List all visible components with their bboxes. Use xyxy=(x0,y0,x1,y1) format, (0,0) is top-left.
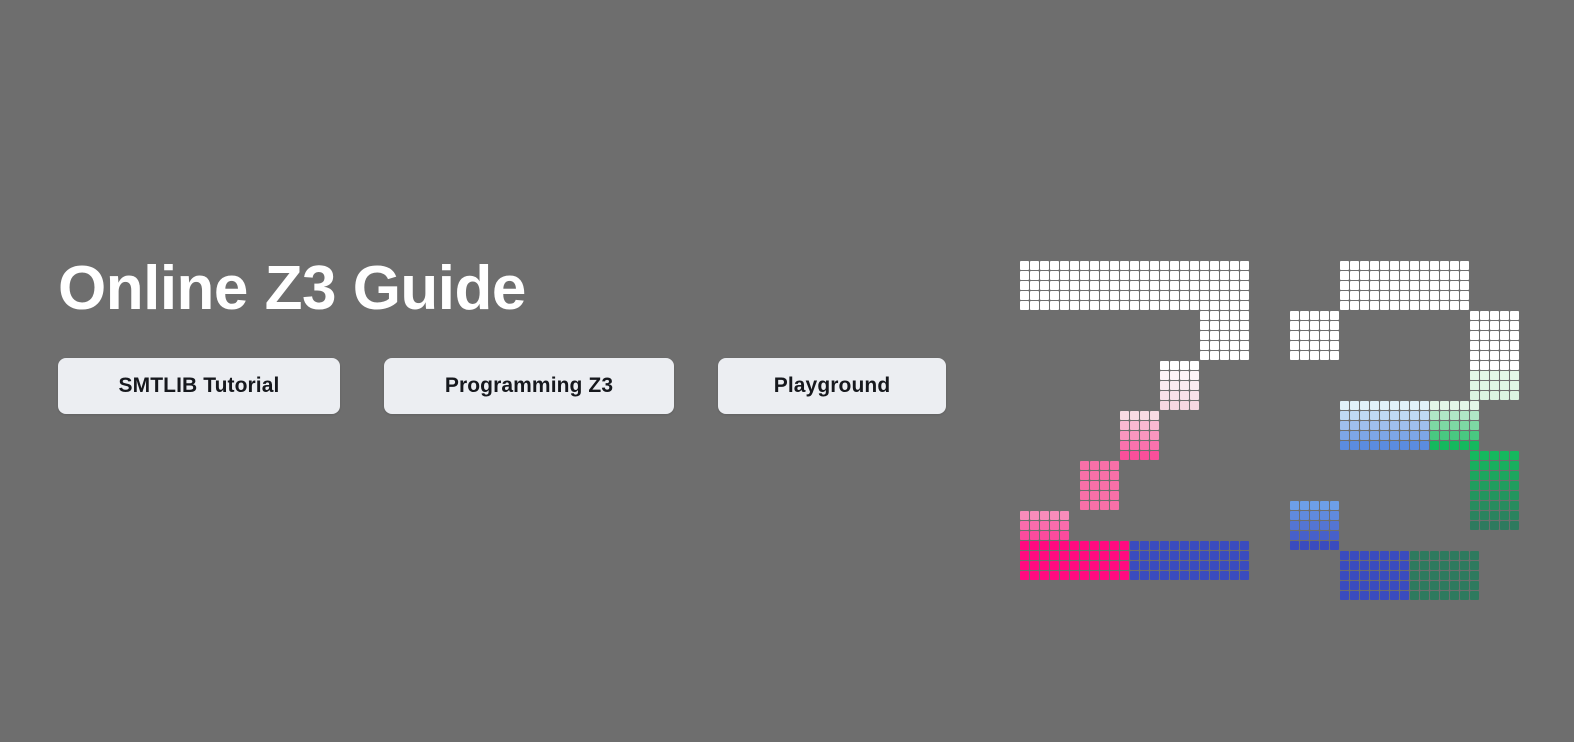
logo-pixel xyxy=(1490,481,1499,490)
logo-pixel xyxy=(1210,341,1219,350)
logo-pixel xyxy=(1040,531,1049,540)
logo-pixel xyxy=(1120,431,1129,440)
logo-pixel xyxy=(1140,301,1149,310)
logo-pixel xyxy=(1330,521,1339,530)
logo-pixel xyxy=(1300,311,1309,320)
logo-pixel xyxy=(1510,311,1519,320)
logo-pixel xyxy=(1380,281,1389,290)
logo-pixel xyxy=(1510,391,1519,400)
logo-pixel xyxy=(1180,401,1189,410)
logo-pixel xyxy=(1390,571,1399,580)
logo-pixel xyxy=(1090,481,1099,490)
logo-pixel xyxy=(1230,291,1239,300)
logo-pixel xyxy=(1210,321,1219,330)
logo-pixel xyxy=(1230,331,1239,340)
logo-pixel xyxy=(1410,551,1419,560)
logo-pixel xyxy=(1400,291,1409,300)
logo-pixel xyxy=(1390,301,1399,310)
logo-pixel xyxy=(1290,311,1299,320)
logo-pixel xyxy=(1420,421,1429,430)
logo-pixel xyxy=(1310,341,1319,350)
logo-pixel xyxy=(1070,551,1079,560)
logo-pixel xyxy=(1470,331,1479,340)
logo-pixel xyxy=(1090,281,1099,290)
logo-pixel xyxy=(1220,331,1229,340)
logo-pixel xyxy=(1500,451,1509,460)
logo-pixel xyxy=(1170,571,1179,580)
logo-pixel xyxy=(1230,281,1239,290)
logo-pixel xyxy=(1190,381,1199,390)
logo-pixel xyxy=(1450,571,1459,580)
logo-pixel xyxy=(1470,591,1479,600)
logo-pixel xyxy=(1100,541,1109,550)
logo-pixel xyxy=(1180,361,1189,370)
logo-pixel xyxy=(1370,591,1379,600)
logo-pixel xyxy=(1150,411,1159,420)
logo-pixel xyxy=(1490,311,1499,320)
logo-pixel xyxy=(1350,411,1359,420)
logo-pixel xyxy=(1140,551,1149,560)
logo-pixel xyxy=(1040,561,1049,570)
logo-pixel xyxy=(1090,261,1099,270)
logo-pixel xyxy=(1360,551,1369,560)
logo-pixel xyxy=(1030,561,1039,570)
logo-pixel xyxy=(1340,581,1349,590)
logo-pixel xyxy=(1430,591,1439,600)
logo-pixel xyxy=(1510,501,1519,510)
logo-pixel xyxy=(1120,271,1129,280)
logo-pixel xyxy=(1330,311,1339,320)
logo-pixel xyxy=(1390,551,1399,560)
logo-pixel xyxy=(1050,301,1059,310)
logo-pixel xyxy=(1460,261,1469,270)
logo-pixel xyxy=(1030,531,1039,540)
logo-pixel xyxy=(1440,291,1449,300)
logo-pixel xyxy=(1040,571,1049,580)
logo-pixel xyxy=(1470,491,1479,500)
logo-pixel xyxy=(1450,561,1459,570)
logo-pixel xyxy=(1120,421,1129,430)
logo-pixel xyxy=(1310,531,1319,540)
logo-pixel xyxy=(1060,511,1069,520)
logo-pixel xyxy=(1450,591,1459,600)
logo-pixel xyxy=(1140,431,1149,440)
logo-pixel xyxy=(1050,291,1059,300)
logo-pixel xyxy=(1090,291,1099,300)
logo-pixel xyxy=(1060,291,1069,300)
logo-pixel xyxy=(1080,501,1089,510)
logo-pixel xyxy=(1170,271,1179,280)
logo-pixel xyxy=(1210,271,1219,280)
logo-pixel xyxy=(1460,591,1469,600)
logo-pixel xyxy=(1420,291,1429,300)
logo-pixel xyxy=(1510,471,1519,480)
logo-pixel xyxy=(1380,571,1389,580)
logo-pixel xyxy=(1380,421,1389,430)
logo-pixel xyxy=(1020,571,1029,580)
logo-pixel xyxy=(1410,291,1419,300)
logo-pixel xyxy=(1180,291,1189,300)
logo-pixel xyxy=(1200,281,1209,290)
logo-pixel xyxy=(1070,571,1079,580)
logo-pixel xyxy=(1390,431,1399,440)
logo-pixel xyxy=(1380,401,1389,410)
logo-pixel xyxy=(1170,361,1179,370)
logo-pixel xyxy=(1170,561,1179,570)
logo-pixel xyxy=(1470,411,1479,420)
logo-pixel xyxy=(1190,281,1199,290)
logo-pixel xyxy=(1450,581,1459,590)
logo-pixel xyxy=(1470,341,1479,350)
logo-pixel xyxy=(1420,401,1429,410)
logo-pixel xyxy=(1190,361,1199,370)
logo-pixel xyxy=(1410,261,1419,270)
logo-pixel xyxy=(1230,561,1239,570)
logo-pixel xyxy=(1070,261,1079,270)
logo-pixel xyxy=(1310,321,1319,330)
logo-pixel xyxy=(1490,511,1499,520)
logo-pixel xyxy=(1170,301,1179,310)
logo-pixel xyxy=(1370,291,1379,300)
logo-pixel xyxy=(1200,301,1209,310)
logo-pixel xyxy=(1040,551,1049,560)
logo-pixel xyxy=(1430,271,1439,280)
logo-pixel xyxy=(1460,581,1469,590)
logo-pixel xyxy=(1290,501,1299,510)
logo-pixel xyxy=(1420,591,1429,600)
logo-pixel xyxy=(1510,381,1519,390)
logo-pixel xyxy=(1480,491,1489,500)
logo-pixel xyxy=(1240,561,1249,570)
logo-pixel xyxy=(1470,551,1479,560)
logo-pixel xyxy=(1500,331,1509,340)
logo-pixel xyxy=(1200,261,1209,270)
logo-pixel xyxy=(1480,521,1489,530)
logo-pixel xyxy=(1400,411,1409,420)
logo-pixel xyxy=(1220,281,1229,290)
logo-pixel xyxy=(1050,531,1059,540)
logo-pixel xyxy=(1080,271,1089,280)
logo-pixel xyxy=(1480,481,1489,490)
logo-pixel xyxy=(1090,471,1099,480)
logo-pixel xyxy=(1490,491,1499,500)
logo-pixel xyxy=(1080,301,1089,310)
logo-pixel xyxy=(1350,261,1359,270)
logo-pixel xyxy=(1440,271,1449,280)
logo-pixel xyxy=(1350,281,1359,290)
logo-pixel xyxy=(1200,311,1209,320)
logo-pixel xyxy=(1340,591,1349,600)
logo-pixel xyxy=(1320,501,1329,510)
logo-pixel xyxy=(1500,511,1509,520)
logo-pixel xyxy=(1480,321,1489,330)
logo-pixel xyxy=(1470,351,1479,360)
logo-pixel xyxy=(1140,541,1149,550)
logo-pixel xyxy=(1470,401,1479,410)
logo-pixel xyxy=(1030,261,1039,270)
logo-pixel xyxy=(1340,401,1349,410)
logo-pixel xyxy=(1320,511,1329,520)
logo-pixel xyxy=(1220,311,1229,320)
logo-pixel xyxy=(1120,291,1129,300)
logo-pixel xyxy=(1470,461,1479,470)
logo-pixel xyxy=(1080,471,1089,480)
logo-pixel xyxy=(1390,581,1399,590)
logo-pixel xyxy=(1420,561,1429,570)
logo-pixel xyxy=(1480,501,1489,510)
logo-pixel xyxy=(1180,281,1189,290)
logo-pixel xyxy=(1490,361,1499,370)
logo-pixel xyxy=(1350,301,1359,310)
logo-pixel xyxy=(1500,481,1509,490)
logo-pixel xyxy=(1420,551,1429,560)
logo-pixel xyxy=(1090,561,1099,570)
logo-pixel xyxy=(1110,551,1119,560)
logo-pixel xyxy=(1510,371,1519,380)
logo-pixel xyxy=(1120,301,1129,310)
logo-pixel xyxy=(1110,501,1119,510)
logo-pixel xyxy=(1090,541,1099,550)
logo-pixel xyxy=(1180,271,1189,280)
logo-pixel xyxy=(1180,381,1189,390)
logo-pixel xyxy=(1400,271,1409,280)
logo-pixel xyxy=(1240,261,1249,270)
logo-pixel xyxy=(1440,261,1449,270)
logo-pixel xyxy=(1510,491,1519,500)
logo-pixel xyxy=(1120,571,1129,580)
z3-pixel-logo xyxy=(1020,261,1520,586)
logo-pixel xyxy=(1470,371,1479,380)
logo-pixel xyxy=(1430,281,1439,290)
logo-pixel xyxy=(1130,451,1139,460)
logo-pixel xyxy=(1510,331,1519,340)
logo-pixel xyxy=(1490,461,1499,470)
logo-pixel xyxy=(1120,281,1129,290)
logo-pixel xyxy=(1430,411,1439,420)
logo-pixel xyxy=(1430,401,1439,410)
logo-pixel xyxy=(1310,331,1319,340)
logo-pixel xyxy=(1150,541,1159,550)
logo-pixel xyxy=(1190,541,1199,550)
logo-pixel xyxy=(1410,571,1419,580)
logo-pixel xyxy=(1130,271,1139,280)
logo-pixel xyxy=(1410,271,1419,280)
logo-pixel xyxy=(1070,561,1079,570)
logo-pixel xyxy=(1480,471,1489,480)
logo-pixel xyxy=(1190,401,1199,410)
logo-pixel xyxy=(1160,301,1169,310)
logo-pixel xyxy=(1320,331,1329,340)
logo-pixel xyxy=(1480,381,1489,390)
logo-pixel xyxy=(1380,431,1389,440)
logo-pixel xyxy=(1340,271,1349,280)
logo-pixel xyxy=(1370,271,1379,280)
logo-pixel xyxy=(1350,571,1359,580)
logo-pixel xyxy=(1150,431,1159,440)
logo-pixel xyxy=(1300,321,1309,330)
logo-pixel xyxy=(1080,261,1089,270)
logo-pixel xyxy=(1050,271,1059,280)
logo-pixel xyxy=(1220,541,1229,550)
logo-pixel xyxy=(1500,521,1509,530)
logo-pixel xyxy=(1150,301,1159,310)
logo-pixel xyxy=(1130,291,1139,300)
logo-pixel xyxy=(1350,401,1359,410)
logo-pixel xyxy=(1080,541,1089,550)
logo-pixel xyxy=(1030,541,1039,550)
hero-text-block: Online Z3 Guide SMTLIB Tutorial Programm… xyxy=(58,258,958,414)
logo-pixel xyxy=(1330,531,1339,540)
logo-pixel xyxy=(1160,271,1169,280)
logo-pixel xyxy=(1100,271,1109,280)
logo-pixel xyxy=(1020,521,1029,530)
logo-pixel xyxy=(1460,411,1469,420)
logo-pixel xyxy=(1040,271,1049,280)
logo-pixel xyxy=(1090,271,1099,280)
logo-pixel xyxy=(1180,561,1189,570)
logo-pixel xyxy=(1100,481,1109,490)
logo-pixel xyxy=(1400,301,1409,310)
logo-pixel xyxy=(1390,591,1399,600)
logo-pixel xyxy=(1430,551,1439,560)
logo-pixel xyxy=(1230,551,1239,560)
logo-pixel xyxy=(1030,271,1039,280)
logo-pixel xyxy=(1400,591,1409,600)
logo-pixel xyxy=(1390,261,1399,270)
logo-pixel xyxy=(1160,571,1169,580)
logo-pixel xyxy=(1450,551,1459,560)
logo-pixel xyxy=(1170,401,1179,410)
logo-pixel xyxy=(1150,551,1159,560)
logo-pixel xyxy=(1440,401,1449,410)
logo-pixel xyxy=(1380,411,1389,420)
logo-pixel xyxy=(1350,561,1359,570)
logo-pixel xyxy=(1340,261,1349,270)
logo-pixel xyxy=(1290,541,1299,550)
logo-pixel xyxy=(1110,571,1119,580)
logo-pixel xyxy=(1420,281,1429,290)
logo-pixel xyxy=(1110,281,1119,290)
logo-pixel xyxy=(1070,281,1079,290)
logo-pixel xyxy=(1480,371,1489,380)
logo-pixel xyxy=(1160,291,1169,300)
playground-button[interactable]: Playground xyxy=(718,358,946,414)
logo-pixel xyxy=(1310,311,1319,320)
logo-pixel xyxy=(1220,291,1229,300)
logo-pixel xyxy=(1500,471,1509,480)
logo-pixel xyxy=(1290,341,1299,350)
logo-pixel xyxy=(1410,591,1419,600)
logo-pixel xyxy=(1020,291,1029,300)
logo-pixel xyxy=(1290,321,1299,330)
logo-pixel xyxy=(1450,441,1459,450)
logo-pixel xyxy=(1140,441,1149,450)
logo-pixel xyxy=(1160,371,1169,380)
logo-pixel xyxy=(1190,301,1199,310)
logo-pixel xyxy=(1510,341,1519,350)
logo-pixel xyxy=(1360,411,1369,420)
logo-pixel xyxy=(1290,331,1299,340)
logo-pixel xyxy=(1360,441,1369,450)
logo-pixel xyxy=(1300,511,1309,520)
logo-pixel xyxy=(1470,511,1479,520)
logo-pixel xyxy=(1330,351,1339,360)
logo-pixel xyxy=(1100,461,1109,470)
logo-pixel xyxy=(1390,441,1399,450)
logo-pixel xyxy=(1450,421,1459,430)
logo-pixel xyxy=(1470,501,1479,510)
logo-pixel xyxy=(1510,451,1519,460)
logo-pixel xyxy=(1200,551,1209,560)
logo-pixel xyxy=(1210,281,1219,290)
logo-pixel xyxy=(1440,571,1449,580)
logo-pixel xyxy=(1050,541,1059,550)
logo-pixel xyxy=(1350,431,1359,440)
logo-pixel xyxy=(1040,291,1049,300)
logo-pixel xyxy=(1110,541,1119,550)
logo-pixel xyxy=(1490,381,1499,390)
logo-pixel xyxy=(1410,281,1419,290)
logo-pixel xyxy=(1410,441,1419,450)
logo-pixel xyxy=(1100,561,1109,570)
logo-pixel xyxy=(1370,301,1379,310)
logo-pixel xyxy=(1040,511,1049,520)
logo-pixel xyxy=(1370,401,1379,410)
programming-z3-button[interactable]: Programming Z3 xyxy=(384,358,674,414)
logo-pixel xyxy=(1100,261,1109,270)
logo-pixel xyxy=(1020,511,1029,520)
logo-pixel xyxy=(1500,371,1509,380)
logo-pixel xyxy=(1060,271,1069,280)
logo-pixel xyxy=(1480,361,1489,370)
logo-pixel xyxy=(1130,561,1139,570)
logo-pixel xyxy=(1480,311,1489,320)
logo-pixel xyxy=(1240,321,1249,330)
logo-pixel xyxy=(1360,281,1369,290)
logo-pixel xyxy=(1460,291,1469,300)
logo-pixel xyxy=(1440,301,1449,310)
logo-pixel xyxy=(1130,541,1139,550)
logo-pixel xyxy=(1020,271,1029,280)
logo-pixel xyxy=(1220,321,1229,330)
logo-pixel xyxy=(1490,521,1499,530)
logo-pixel xyxy=(1320,321,1329,330)
logo-pixel xyxy=(1400,431,1409,440)
logo-pixel xyxy=(1190,271,1199,280)
logo-pixel xyxy=(1360,291,1369,300)
logo-pixel xyxy=(1210,561,1219,570)
logo-pixel xyxy=(1450,281,1459,290)
logo-pixel xyxy=(1140,571,1149,580)
logo-pixel xyxy=(1240,351,1249,360)
logo-pixel xyxy=(1210,291,1219,300)
logo-pixel xyxy=(1060,571,1069,580)
logo-pixel xyxy=(1020,551,1029,560)
logo-pixel xyxy=(1330,341,1339,350)
logo-pixel xyxy=(1160,281,1169,290)
logo-pixel xyxy=(1050,551,1059,560)
smtlib-tutorial-button[interactable]: SMTLIB Tutorial xyxy=(58,358,340,414)
logo-pixel xyxy=(1110,301,1119,310)
logo-pixel xyxy=(1100,491,1109,500)
logo-pixel xyxy=(1500,461,1509,470)
logo-pixel xyxy=(1510,511,1519,520)
logo-pixel xyxy=(1030,551,1039,560)
logo-pixel xyxy=(1370,431,1379,440)
logo-pixel xyxy=(1100,501,1109,510)
logo-pixel xyxy=(1080,491,1089,500)
logo-pixel xyxy=(1440,441,1449,450)
